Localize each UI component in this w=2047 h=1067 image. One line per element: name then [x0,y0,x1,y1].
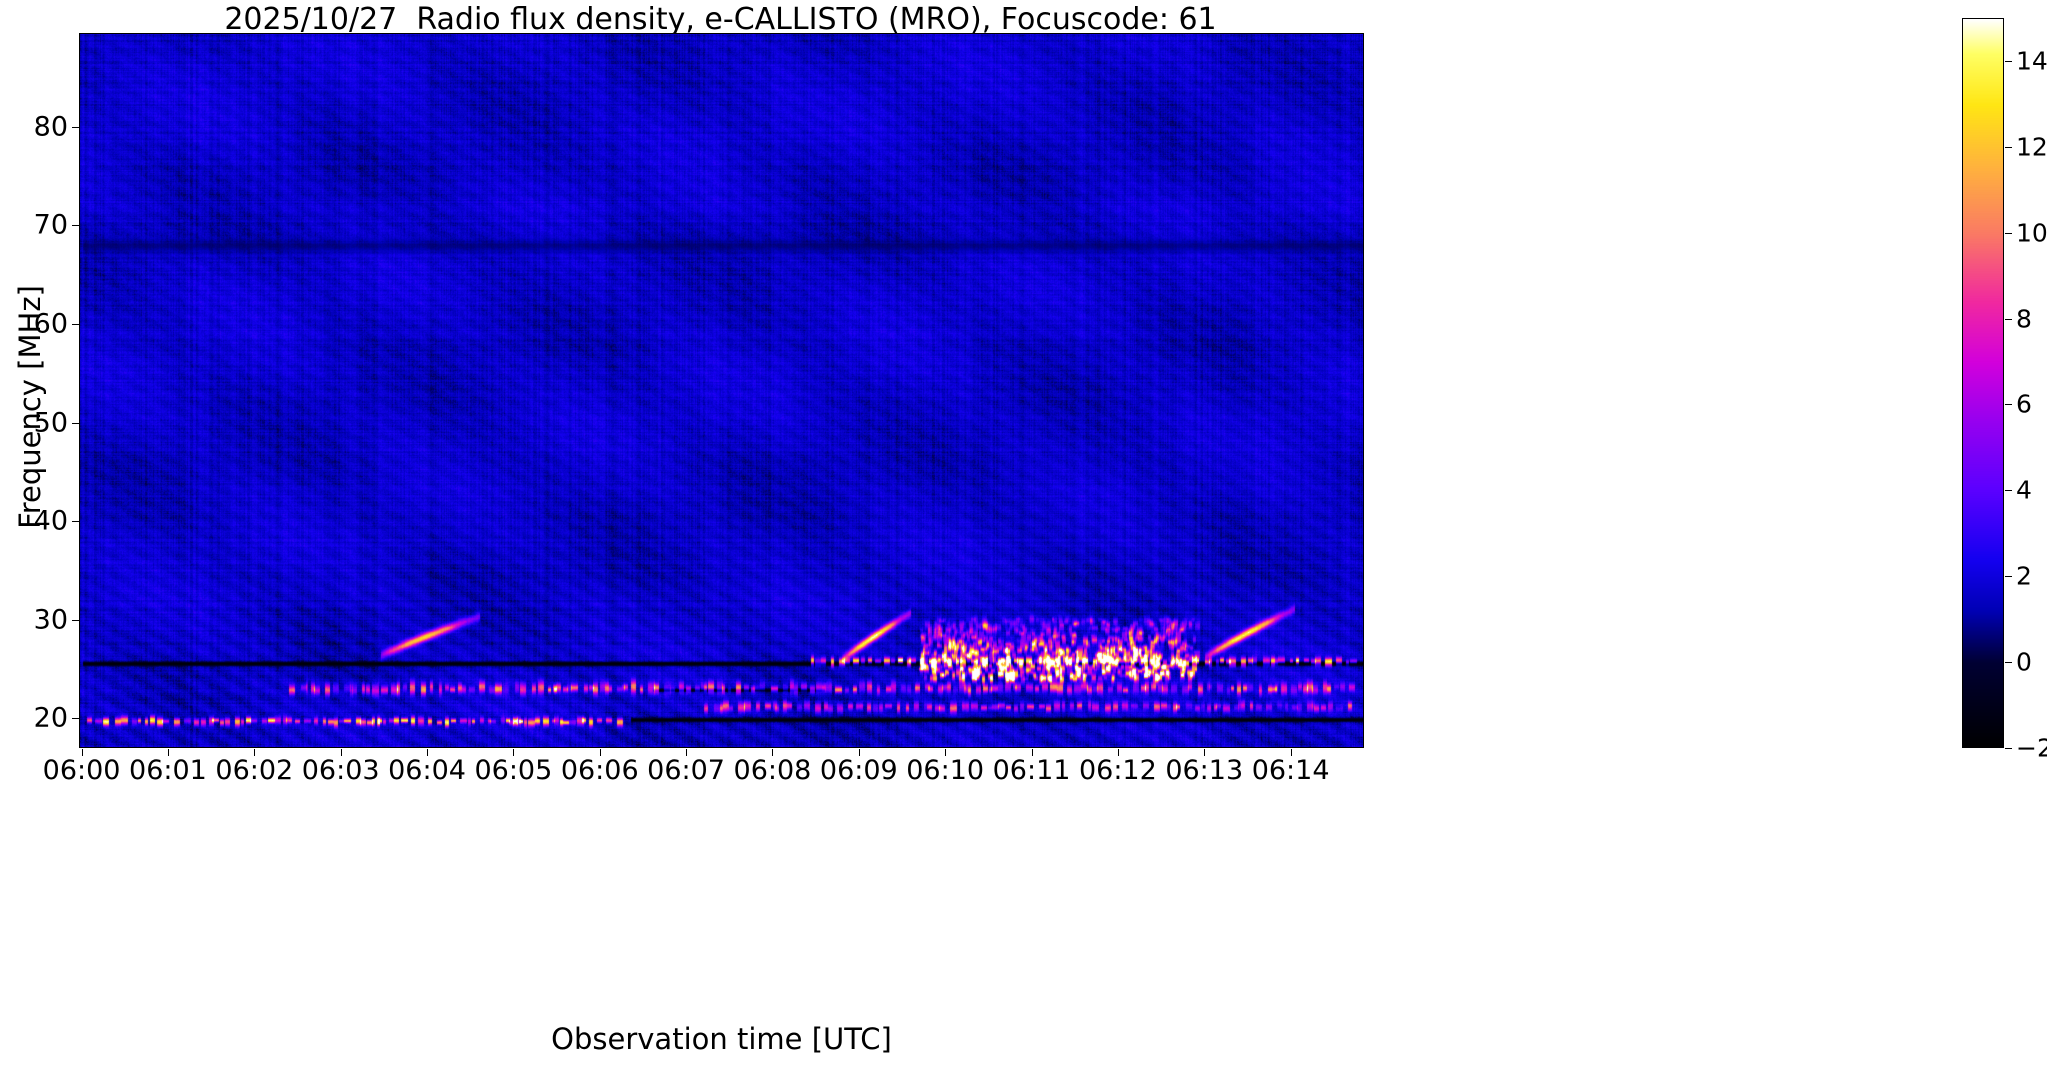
x-tick-label: 06:06 [561,755,639,786]
spectrogram-figure: 2025/10/27 Radio flux density, e-CALLIST… [0,0,2047,1067]
colorbar-canvas [1963,19,2004,748]
colorbar-tick-label: −2 [2016,734,2047,763]
y-tick-mark [72,718,79,719]
colorbar-tick-mark [2005,404,2012,405]
colorbar-tick-label: 8 [2016,304,2032,333]
colorbar-tick-label: 0 [2016,648,2032,677]
y-tick-label: 80 [8,111,68,142]
colorbar-tick-label: 10 [2016,218,2047,247]
x-tick-label: 06:09 [820,755,898,786]
y-tick-mark [72,127,79,128]
x-tick-label: 06:00 [43,755,121,786]
x-tick-label: 06:05 [474,755,552,786]
y-tick-label: 20 [8,703,68,734]
y-tick-mark [72,423,79,424]
colorbar-tick-label: 12 [2016,132,2047,161]
x-tick-label: 06:07 [647,755,725,786]
x-tick-label: 06:11 [993,755,1071,786]
y-tick-label: 70 [8,210,68,241]
colorbar-tick-mark [2005,233,2012,234]
x-tick-label: 06:14 [1252,755,1330,786]
colorbar-tick-mark [2005,319,2012,320]
x-tick-mark [686,749,687,756]
x-tick-mark [513,749,514,756]
x-tick-mark [1118,749,1119,756]
colorbar-tick-mark [2005,662,2012,663]
plot-area [79,33,1364,748]
y-tick-label: 60 [8,308,68,339]
y-tick-mark [72,620,79,621]
x-tick-mark [82,749,83,756]
x-tick-label: 06:04 [388,755,466,786]
x-tick-mark [254,749,255,756]
y-tick-mark [72,324,79,325]
x-tick-mark [1291,749,1292,756]
colorbar-tick-mark [2005,490,2012,491]
x-tick-mark [427,749,428,756]
x-tick-label: 06:12 [1079,755,1157,786]
spectrogram-canvas [80,34,1364,748]
x-tick-mark [945,749,946,756]
x-axis-label: Observation time [UTC] [79,1022,1364,1056]
y-tick-label: 50 [8,407,68,438]
x-tick-mark [859,749,860,756]
x-tick-mark [772,749,773,756]
y-tick-label: 30 [8,604,68,635]
x-tick-mark [168,749,169,756]
colorbar-tick-mark [2005,61,2012,62]
x-tick-label: 06:03 [302,755,380,786]
x-tick-mark [341,749,342,756]
colorbar [1962,18,2004,748]
y-tick-mark [72,521,79,522]
colorbar-tick-label: 2 [2016,562,2032,591]
x-tick-label: 06:01 [129,755,207,786]
x-tick-mark [600,749,601,756]
colorbar-tick-label: 6 [2016,390,2032,419]
x-tick-mark [1032,749,1033,756]
y-tick-label: 40 [8,506,68,537]
colorbar-tick-mark [2005,576,2012,577]
x-tick-mark [1204,749,1205,756]
x-tick-label: 06:10 [906,755,984,786]
page-title: 2025/10/27 Radio flux density, e-CALLIST… [0,2,1441,37]
colorbar-tick-label: 14 [2016,46,2047,75]
y-tick-mark [72,225,79,226]
x-tick-label: 06:08 [734,755,812,786]
colorbar-tick-label: 4 [2016,476,2032,505]
colorbar-tick-mark [2005,147,2012,148]
x-tick-label: 06:02 [215,755,293,786]
x-tick-label: 06:13 [1165,755,1243,786]
colorbar-tick-mark [2005,748,2012,749]
